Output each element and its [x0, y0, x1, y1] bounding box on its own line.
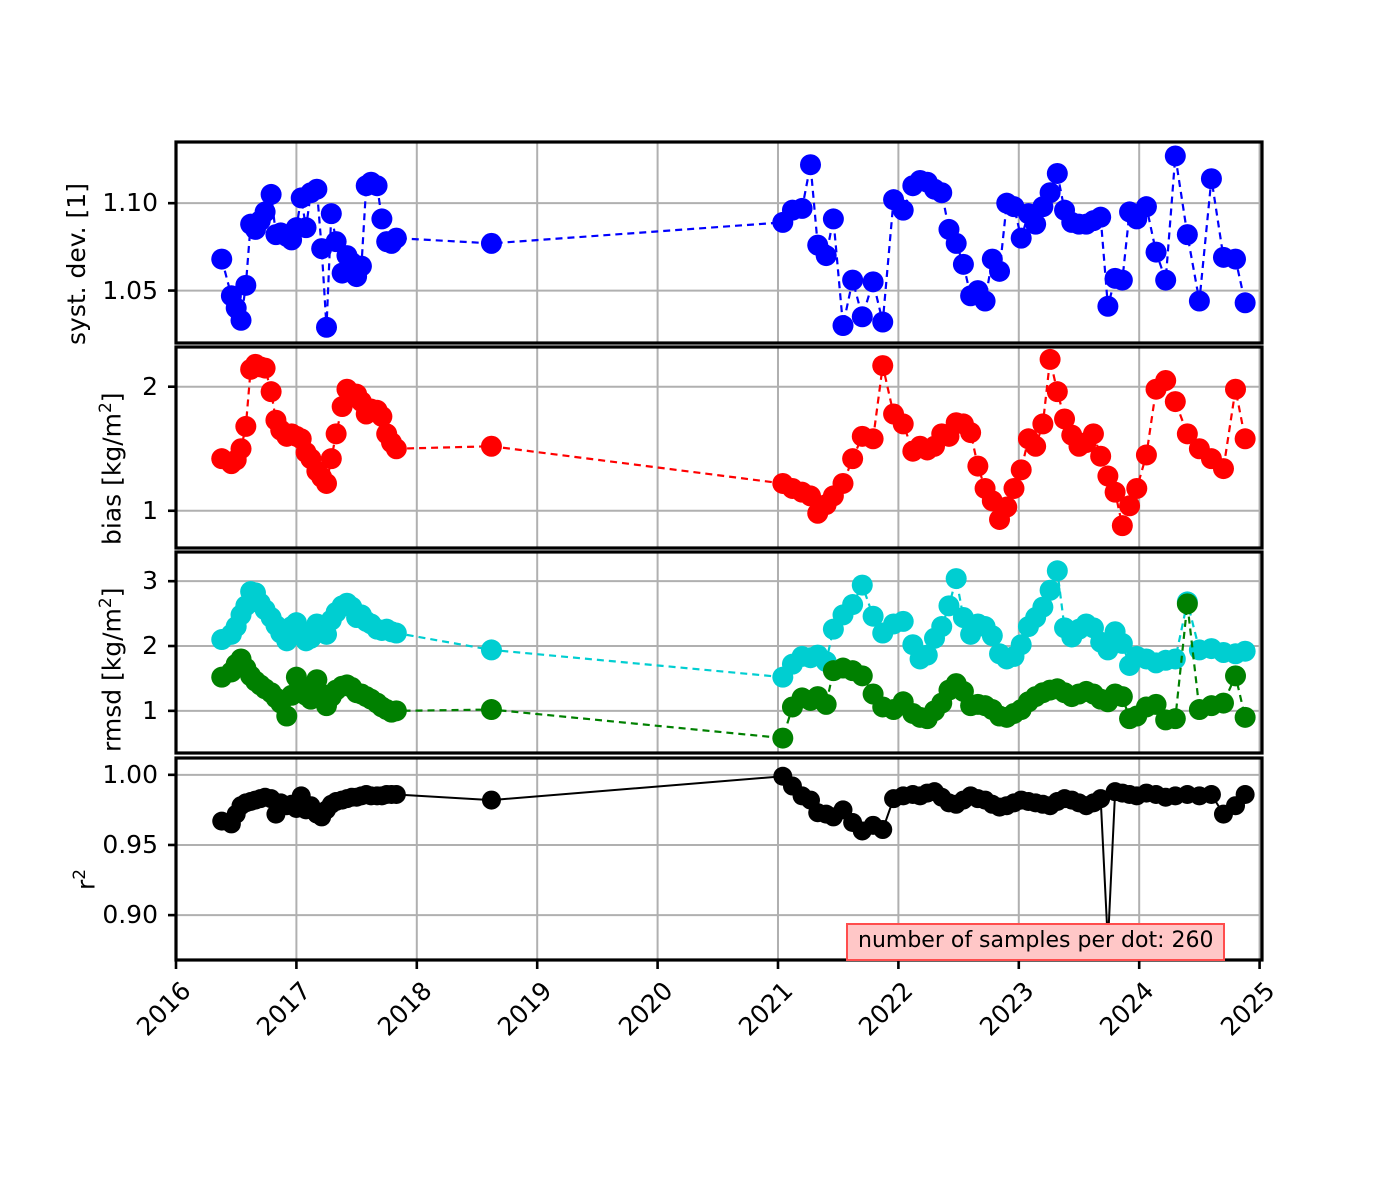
- data-point: [261, 381, 282, 402]
- data-point: [823, 208, 844, 229]
- data-point: [321, 203, 342, 224]
- data-point: [800, 154, 821, 175]
- data-point: [1165, 145, 1186, 166]
- data-point: [316, 317, 337, 338]
- data-point: [1165, 391, 1186, 412]
- data-point: [1235, 641, 1256, 662]
- data-point: [1146, 242, 1167, 263]
- data-point: [326, 423, 347, 444]
- data-point: [481, 639, 502, 660]
- data-point: [772, 728, 793, 749]
- data-point: [1032, 413, 1053, 434]
- data-point: [1126, 478, 1147, 499]
- panel-3: [176, 552, 1262, 753]
- data-point: [946, 233, 967, 254]
- data-point: [1090, 446, 1111, 467]
- data-point: [235, 416, 256, 437]
- data-point: [1047, 381, 1068, 402]
- data-point: [931, 182, 952, 203]
- data-point: [1112, 515, 1133, 536]
- data-point: [792, 198, 813, 219]
- data-point: [1040, 349, 1061, 370]
- data-point: [953, 254, 974, 275]
- data-point: [1112, 270, 1133, 291]
- data-point: [1189, 291, 1210, 312]
- data-point: [1213, 693, 1234, 714]
- data-point: [1225, 249, 1246, 270]
- data-point: [982, 625, 1003, 646]
- data-point: [1236, 785, 1255, 804]
- data-point: [989, 261, 1010, 282]
- data-point: [852, 665, 873, 686]
- data-point: [1136, 444, 1157, 465]
- sample-count-annotation: number of samples per dot: 260: [846, 923, 1225, 961]
- data-point: [1235, 428, 1256, 449]
- panel-1: [176, 142, 1262, 343]
- data-point: [1011, 459, 1032, 480]
- data-point: [1040, 580, 1061, 601]
- data-point: [1090, 207, 1111, 228]
- data-point: [893, 611, 914, 632]
- data-point: [482, 791, 501, 810]
- data-point: [211, 249, 232, 270]
- data-point: [842, 594, 863, 615]
- data-point: [235, 275, 256, 296]
- data-point: [1003, 478, 1024, 499]
- data-point: [386, 700, 407, 721]
- data-point: [231, 310, 252, 331]
- data-point: [1083, 423, 1104, 444]
- data-point: [833, 473, 854, 494]
- data-point: [316, 473, 337, 494]
- data-point: [1201, 168, 1222, 189]
- data-point: [960, 422, 981, 443]
- plot-canvas: [0, 0, 1400, 1200]
- data-point: [1112, 686, 1133, 707]
- data-point: [1025, 436, 1046, 457]
- data-point: [1047, 163, 1068, 184]
- data-point: [816, 245, 837, 266]
- data-point: [1213, 458, 1234, 479]
- data-point: [842, 448, 863, 469]
- data-point: [967, 456, 988, 477]
- data-point: [893, 200, 914, 221]
- data-point: [931, 616, 952, 637]
- data-point: [1202, 785, 1221, 804]
- figure-root: syst. dev. [1] bias [kg/m2] rmsd [kg/m2]…: [0, 0, 1400, 1200]
- data-point: [1040, 182, 1061, 203]
- data-point: [1235, 292, 1256, 313]
- data-point: [946, 568, 967, 589]
- y-tick-label: 0.90: [0, 900, 158, 929]
- panel-1-ylabel: syst. dev. [1]: [62, 145, 91, 345]
- data-point: [852, 575, 873, 596]
- data-point: [367, 175, 388, 196]
- data-point: [306, 179, 327, 200]
- y-tick-label: 1.10: [0, 188, 158, 217]
- data-point: [351, 256, 372, 277]
- data-point: [481, 699, 502, 720]
- data-point: [387, 785, 406, 804]
- data-point: [975, 291, 996, 312]
- y-tick-label: 3: [0, 566, 158, 595]
- data-point: [1225, 665, 1246, 686]
- data-point: [261, 184, 282, 205]
- data-point: [833, 315, 854, 336]
- data-point: [996, 497, 1017, 518]
- data-point: [321, 448, 342, 469]
- data-point: [893, 413, 914, 434]
- y-tick-label: 1: [0, 696, 158, 725]
- data-point: [386, 438, 407, 459]
- data-point: [1225, 379, 1246, 400]
- data-point: [872, 355, 893, 376]
- data-point: [276, 706, 297, 727]
- data-point: [816, 694, 837, 715]
- data-point: [863, 428, 884, 449]
- data-point: [371, 208, 392, 229]
- data-point: [481, 233, 502, 254]
- data-point: [1047, 560, 1068, 581]
- data-point: [386, 228, 407, 249]
- y-tick-label: 2: [0, 372, 158, 401]
- data-point: [873, 820, 892, 839]
- data-point: [863, 271, 884, 292]
- data-point: [852, 306, 873, 327]
- y-tick-label: 0.95: [0, 830, 158, 859]
- y-tick-label: 1: [0, 496, 158, 525]
- y-tick-label: 2: [0, 631, 158, 660]
- data-point: [386, 623, 407, 644]
- data-point: [255, 358, 276, 379]
- data-point: [1177, 224, 1198, 245]
- data-point: [481, 436, 502, 457]
- data-point: [296, 217, 317, 238]
- data-point: [1177, 593, 1198, 614]
- data-point: [1155, 370, 1176, 391]
- data-point: [842, 270, 863, 291]
- panel-2: [176, 347, 1262, 548]
- data-point: [1136, 196, 1157, 217]
- data-point: [1165, 708, 1186, 729]
- data-point: [872, 312, 893, 333]
- data-point: [1155, 270, 1176, 291]
- y-tick-label: 1.00: [0, 760, 158, 789]
- data-point: [1011, 634, 1032, 655]
- data-point: [1097, 296, 1118, 317]
- y-tick-label: 1.05: [0, 276, 158, 305]
- data-point: [1235, 707, 1256, 728]
- data-point: [231, 438, 252, 459]
